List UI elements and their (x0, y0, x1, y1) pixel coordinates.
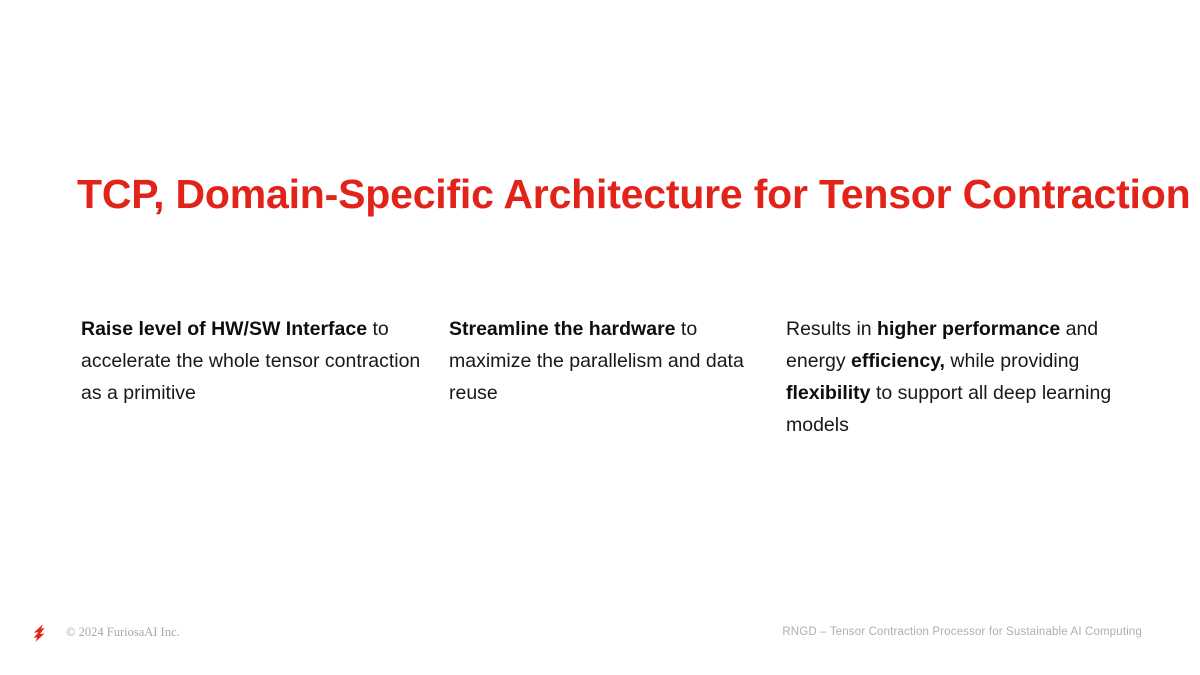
column-3-bold-efficiency: efficiency, (851, 350, 945, 372)
text-column-3: Results in higher performance and energy… (786, 313, 1146, 441)
column-2-bold-lead: Streamline the hardware (449, 318, 676, 340)
copyright-text: © 2024 FuriosaAI Inc. (66, 624, 180, 640)
furiosaai-bolt-icon (29, 621, 53, 645)
slide-footer: © 2024 FuriosaAI Inc. RNGD – Tensor Cont… (0, 615, 1200, 675)
column-3-segment-1: Results in (786, 318, 877, 340)
presentation-slide: TCP, Domain-Specific Architecture for Te… (0, 0, 1200, 675)
page-title: TCP, Domain-Specific Architecture for Te… (77, 168, 1177, 220)
column-3-segment-3: while providing (945, 350, 1079, 372)
column-3-bold-higher-performance: higher performance (877, 318, 1060, 340)
text-column-1: Raise level of HW/SW Interface to accele… (81, 313, 433, 409)
column-1-bold-lead: Raise level of HW/SW Interface (81, 318, 367, 340)
footer-caption: RNGD – Tensor Contraction Processor for … (782, 624, 1142, 640)
column-3-bold-flexibility: flexibility (786, 382, 871, 404)
body-columns: Raise level of HW/SW Interface to accele… (0, 313, 1200, 513)
text-column-2: Streamline the hardware to maximize the … (449, 313, 769, 409)
